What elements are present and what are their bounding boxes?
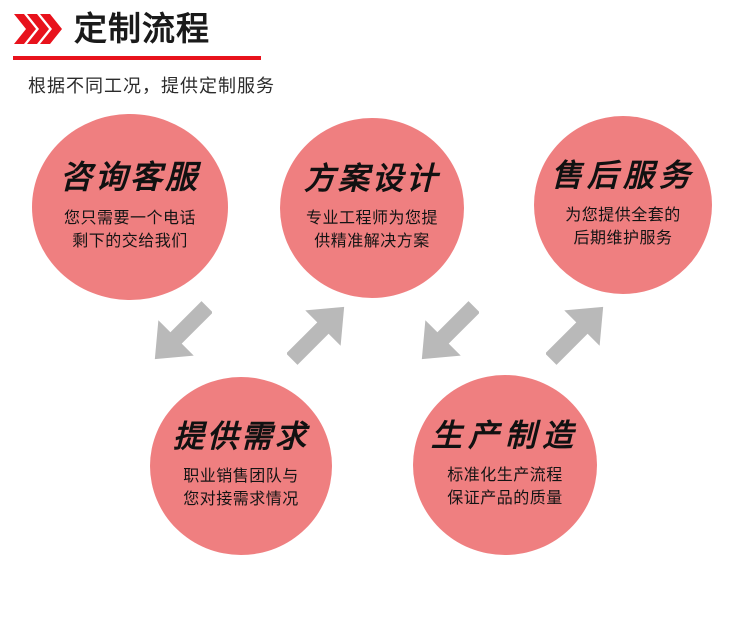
flow-step-desc-line: 职业销售团队与 — [183, 465, 299, 488]
flow-step-description: 职业销售团队与 您对接需求情况 — [183, 465, 299, 511]
arrow-up-right-icon — [287, 296, 349, 370]
flow-step-title: 咨询客服 — [60, 161, 200, 195]
flow-step-title: 生产制造 — [431, 420, 579, 453]
flow-step-desc-line: 专业工程师为您提 — [306, 207, 438, 230]
flow-step-desc-line: 为您提供全套的 — [565, 204, 681, 227]
flow-step-title: 提供需求 — [173, 421, 309, 454]
flow-step-consult[interactable]: 咨询客服 您只需要一个电话 剩下的交给我们 — [32, 114, 228, 300]
flow-step-description: 您只需要一个电话 剩下的交给我们 — [64, 207, 196, 253]
header-title-row: 定制流程 — [14, 12, 210, 46]
customization-flow-infographic: 定制流程 根据不同工况，提供定制服务 咨询客服 您只需要一个电话 剩下的交给我们… — [0, 0, 750, 623]
flow-step-design[interactable]: 方案设计 专业工程师为您提 供精准解决方案 — [280, 118, 464, 298]
triple-chevron-right-icon — [14, 12, 62, 46]
arrow-up-right-icon — [546, 296, 608, 370]
header-underline — [13, 56, 261, 60]
flow-step-desc-line: 剩下的交给我们 — [64, 230, 196, 253]
page-title: 定制流程 — [74, 12, 210, 46]
flow-step-aftersales[interactable]: 售后服务 为您提供全套的 后期维护服务 — [534, 116, 712, 294]
flow-step-desc-line: 保证产品的质量 — [447, 487, 563, 510]
flow-step-title: 方案设计 — [304, 163, 440, 196]
flow-step-desc-line: 您只需要一个电话 — [64, 207, 196, 230]
flow-step-manufacturing[interactable]: 生产制造 标准化生产流程 保证产品的质量 — [413, 375, 597, 555]
flow-step-description: 专业工程师为您提 供精准解决方案 — [306, 207, 438, 253]
page-header: 定制流程 根据不同工况，提供定制服务 — [0, 0, 750, 110]
arrow-down-right-icon — [417, 296, 479, 370]
flow-step-desc-line: 标准化生产流程 — [447, 464, 563, 487]
flow-step-desc-line: 供精准解决方案 — [306, 230, 438, 253]
flow-step-description: 标准化生产流程 保证产品的质量 — [447, 464, 563, 510]
flow-step-requirements[interactable]: 提供需求 职业销售团队与 您对接需求情况 — [150, 377, 332, 555]
arrow-down-right-icon — [150, 296, 212, 370]
flow-step-desc-line: 您对接需求情况 — [183, 488, 299, 511]
flow-step-title: 售后服务 — [551, 160, 695, 193]
page-subtitle: 根据不同工况，提供定制服务 — [28, 72, 275, 98]
flow-step-desc-line: 后期维护服务 — [565, 227, 681, 250]
flow-step-description: 为您提供全套的 后期维护服务 — [565, 204, 681, 250]
